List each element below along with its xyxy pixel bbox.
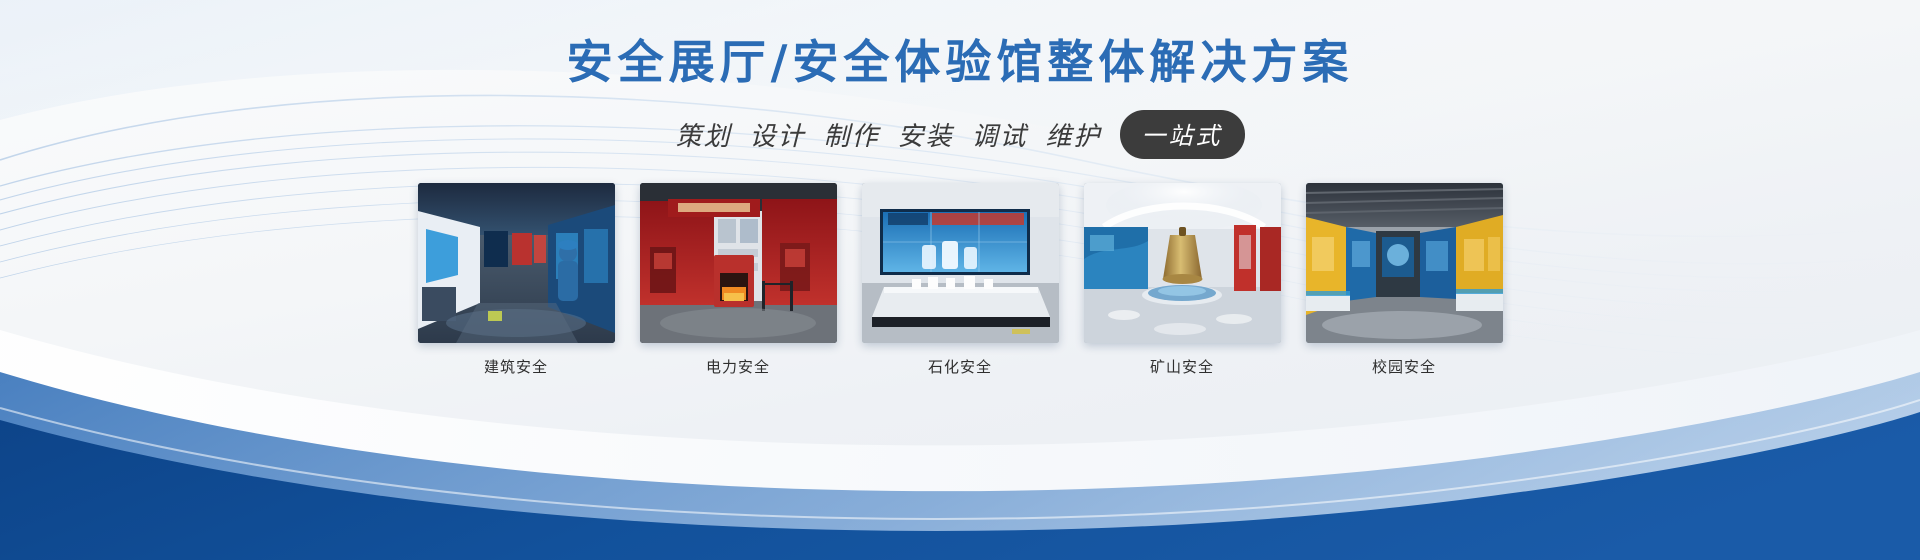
thumbnail-card[interactable]: 矿山安全 xyxy=(1084,183,1281,377)
thumbnail-caption: 矿山安全 xyxy=(1150,356,1214,377)
thumbnail-card[interactable]: 建筑安全 xyxy=(418,183,615,377)
exhibition-hall-photo-icon[interactable] xyxy=(1084,183,1281,343)
thumbnail-caption: 石化安全 xyxy=(928,356,992,377)
thumbnail-card[interactable]: 电力安全 xyxy=(640,183,837,377)
exhibition-hall-photo-icon[interactable] xyxy=(862,183,1059,343)
exhibition-hall-photo-icon[interactable] xyxy=(418,183,615,343)
exhibition-hall-photo-icon[interactable] xyxy=(640,183,837,343)
thumbnail-card[interactable]: 石化安全 xyxy=(862,183,1059,377)
thumbnail-row: 建筑安全 xyxy=(418,183,1503,377)
exhibition-hall-photo-icon[interactable] xyxy=(1306,183,1503,343)
service-step: 维护 xyxy=(1046,116,1102,153)
service-step: 安装 xyxy=(898,116,954,153)
service-steps-row: 策划 设计 制作 安装 调试 维护 一站式 xyxy=(675,110,1244,159)
service-step: 调试 xyxy=(972,116,1028,153)
one-stop-badge: 一站式 xyxy=(1120,110,1245,159)
thumbnail-caption: 校园安全 xyxy=(1372,356,1436,377)
thumbnail-caption: 电力安全 xyxy=(706,356,770,377)
service-step: 设计 xyxy=(749,116,805,153)
banner-title: 安全展厅/安全体验馆整体解决方案 xyxy=(567,26,1354,92)
thumbnail-caption: 建筑安全 xyxy=(484,356,548,377)
service-step: 制作 xyxy=(823,116,879,153)
thumbnail-card[interactable]: 校园安全 xyxy=(1306,183,1503,377)
service-step: 策划 xyxy=(675,116,731,153)
banner-content: 安全展厅/安全体验馆整体解决方案 策划 设计 制作 安装 调试 维护 一站式 xyxy=(0,0,1920,560)
promo-banner: 安全展厅/安全体验馆整体解决方案 策划 设计 制作 安装 调试 维护 一站式 xyxy=(0,0,1920,560)
